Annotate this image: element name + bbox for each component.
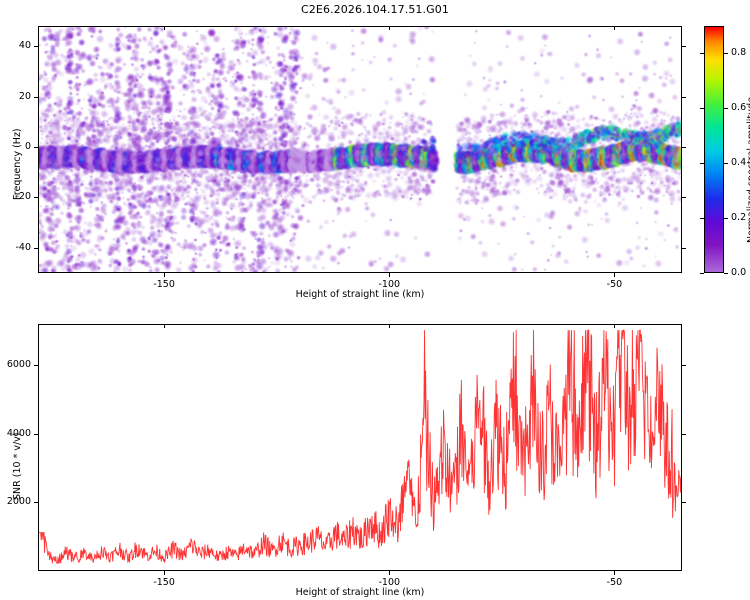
tick-mark — [389, 571, 390, 575]
tick-mark — [164, 324, 165, 328]
snr-x-axis-label: Height of straight line (km) — [0, 587, 720, 598]
tick-mark — [682, 434, 686, 435]
tick-label: 0.0 — [731, 267, 746, 278]
snr-plot-area — [38, 324, 682, 571]
tick-label: 0.4 — [731, 157, 746, 168]
tick-mark — [34, 97, 38, 98]
snr-y-axis-label: SNR (10 * v/v) — [12, 433, 23, 501]
tick-mark — [34, 502, 38, 503]
tick-label: 0.8 — [731, 47, 746, 58]
colorbar-gradient — [705, 27, 723, 272]
tick-mark — [682, 97, 686, 98]
tick-mark — [700, 163, 704, 164]
snr-line-chart — [39, 325, 681, 570]
tick-mark — [34, 248, 38, 249]
tick-mark — [700, 273, 704, 274]
tick-mark — [700, 108, 704, 109]
tick-mark — [682, 502, 686, 503]
tick-mark — [389, 26, 390, 30]
tick-mark — [164, 571, 165, 575]
tick-mark — [682, 248, 686, 249]
tick-mark — [164, 273, 165, 277]
tick-mark — [34, 147, 38, 148]
tick-mark — [724, 108, 728, 109]
tick-mark — [34, 365, 38, 366]
tick-label: 40 — [19, 40, 31, 51]
tick-mark — [614, 571, 615, 575]
tick-mark — [389, 273, 390, 277]
tick-mark — [34, 46, 38, 47]
spectrogram-plot-area — [38, 26, 682, 273]
tick-mark — [34, 197, 38, 198]
tick-mark — [34, 434, 38, 435]
tick-mark — [614, 26, 615, 30]
tick-mark — [724, 53, 728, 54]
tick-mark — [682, 46, 686, 47]
snr-series-line — [39, 330, 681, 563]
tick-mark — [614, 324, 615, 328]
tick-mark — [682, 147, 686, 148]
spectrogram-image — [39, 27, 681, 272]
tick-label: 20 — [19, 91, 31, 102]
tick-mark — [682, 197, 686, 198]
tick-mark — [682, 365, 686, 366]
colorbar — [704, 26, 724, 273]
tick-mark — [724, 218, 728, 219]
tick-label: -40 — [15, 242, 31, 253]
spectrogram-x-axis-label: Height of straight line (km) — [0, 289, 720, 300]
tick-mark — [614, 273, 615, 277]
tick-mark — [700, 218, 704, 219]
tick-mark — [724, 273, 728, 274]
spectrogram-y-axis-label: Frequency (Hz) — [12, 128, 23, 200]
tick-label: 6000 — [7, 359, 31, 370]
page-title: C2E6.2026.104.17.51.G01 — [0, 3, 750, 16]
tick-mark — [724, 163, 728, 164]
tick-label: 0.6 — [731, 102, 746, 113]
tick-mark — [700, 53, 704, 54]
tick-mark — [164, 26, 165, 30]
colorbar-label: Normalized spectral amplitude — [746, 97, 750, 243]
tick-mark — [389, 324, 390, 328]
tick-label: 0 — [25, 141, 31, 152]
tick-label: 0.2 — [731, 212, 746, 223]
